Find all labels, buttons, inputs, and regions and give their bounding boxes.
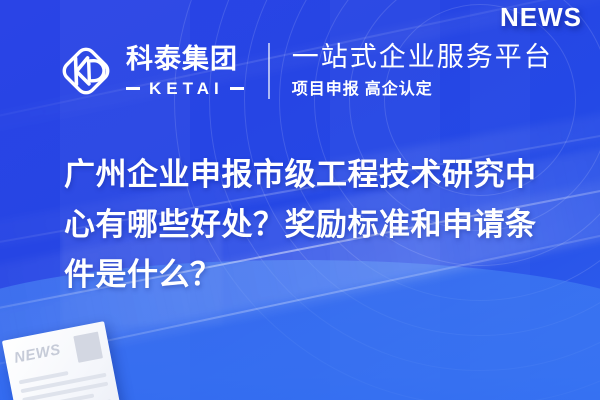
newspaper-thumbnail-icon: [73, 332, 103, 363]
ketai-diamond-monogram-icon: [58, 43, 114, 99]
slogan-sub: 项目申报 高企认定: [292, 82, 553, 98]
header-divider: [268, 43, 270, 99]
dash-right-icon: [230, 87, 244, 90]
brand-logo[interactable]: 科泰集团 KETAI: [58, 43, 244, 99]
banner-header: 科泰集团 KETAI 一站式企业服务平台 项目申报 高企认定: [0, 28, 600, 114]
newspaper-illustration: NEWS: [2, 321, 126, 400]
dash-left-icon: [126, 87, 140, 90]
page-title-line-3: 件是什么？: [64, 250, 564, 300]
brand-wordmark: 科泰集团 KETAI: [126, 46, 244, 97]
brand-name-en: KETAI: [140, 80, 230, 97]
page-title-line-1: 广州企业申报市级工程技术研究中: [64, 150, 564, 200]
slogan-block: 一站式企业服务平台 项目申报 高企认定: [292, 44, 553, 98]
brand-name-en-row: KETAI: [126, 80, 244, 97]
page-title-line-2: 心有哪些好处？奖励标准和申请条: [64, 200, 564, 250]
page-title: 广州企业申报市级工程技术研究中 心有哪些好处？奖励标准和申请条 件是什么？: [64, 150, 564, 301]
slogan-main: 一站式企业服务平台: [292, 44, 553, 71]
newspaper-title: NEWS: [13, 342, 62, 366]
brand-name-cn: 科泰集团: [126, 46, 244, 73]
news-banner: NEWS 科泰集团 KETA: [0, 0, 600, 400]
